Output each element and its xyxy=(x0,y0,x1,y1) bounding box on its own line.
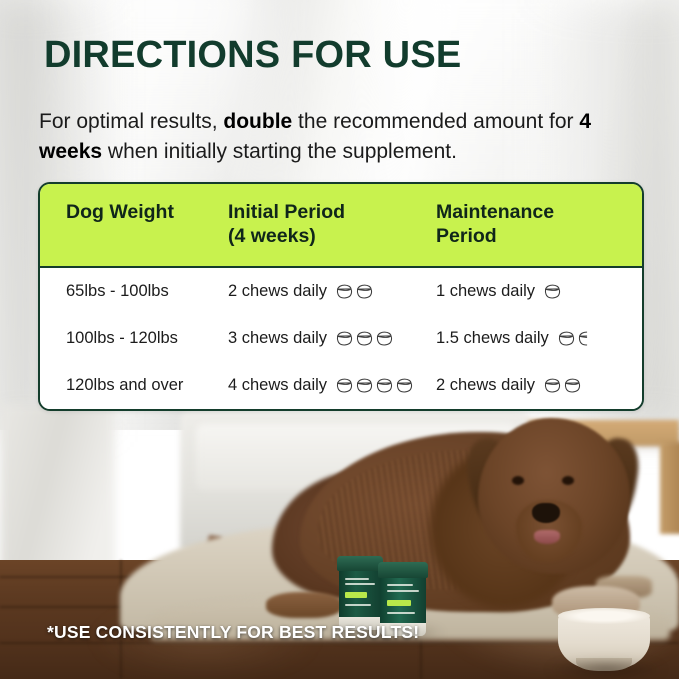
cell-dog-weight: 65lbs - 100lbs xyxy=(40,282,228,301)
dosage-table: Dog Weight Initial Period (4 weeks) Main… xyxy=(38,182,644,411)
chew-treat-icon xyxy=(395,377,414,394)
maintenance-dose-text: 2 chews daily xyxy=(436,376,535,395)
subtitle-part-3: when initially starting the supplement. xyxy=(102,140,457,163)
initial-dose-text: 2 chews daily xyxy=(228,282,327,301)
cell-initial-period: 3 chews daily xyxy=(228,329,436,348)
cell-maintenance-period: 2 chews daily xyxy=(436,376,642,395)
chew-icon-group xyxy=(543,283,562,300)
initial-dose-text: 4 chews daily xyxy=(228,376,327,395)
cell-maintenance-period: 1 chews daily xyxy=(436,282,642,301)
maintenance-dose-text: 1 chews daily xyxy=(436,282,535,301)
chew-treat-icon xyxy=(543,377,562,394)
cell-dog-weight: 120lbs and over xyxy=(40,376,228,395)
chew-treat-icon xyxy=(355,283,374,300)
subtitle-bold-double: double xyxy=(223,110,292,133)
chew-treat-icon xyxy=(557,330,576,347)
chew-treat-icon xyxy=(375,330,394,347)
header-maintenance-period-line2: Period xyxy=(436,224,642,248)
chew-icon-group xyxy=(335,330,394,347)
header-dog-weight: Dog Weight xyxy=(40,200,228,249)
chew-treat-half-icon xyxy=(577,330,596,347)
table-row: 100lbs - 120lbs3 chews daily1.5 chews da… xyxy=(40,315,642,362)
chew-treat-icon xyxy=(335,283,354,300)
page-title: DIRECTIONS FOR USE xyxy=(44,35,461,77)
cell-dog-weight: 100lbs - 120lbs xyxy=(40,329,228,348)
directions-for-use-infographic: DIRECTIONS FOR USE For optimal results, … xyxy=(0,0,679,679)
chew-treat-icon xyxy=(543,283,562,300)
footer-note: *USE CONSISTENTLY FOR BEST RESULTS! xyxy=(47,622,419,643)
chew-treat-icon xyxy=(335,377,354,394)
maintenance-dose-text: 1.5 chews daily xyxy=(436,329,549,348)
header-initial-period-line1: Initial Period xyxy=(228,200,436,224)
chew-icon-group xyxy=(543,377,582,394)
chew-icon-group xyxy=(335,283,374,300)
subtitle: For optimal results, double the recommen… xyxy=(39,107,639,168)
chew-treat-icon xyxy=(335,330,354,347)
cell-initial-period: 4 chews daily xyxy=(228,376,436,395)
chew-treat-icon xyxy=(563,377,582,394)
chew-icon-group xyxy=(335,377,414,394)
overlay-content: DIRECTIONS FOR USE For optimal results, … xyxy=(0,0,679,679)
initial-dose-text: 3 chews daily xyxy=(228,329,327,348)
subtitle-part-2: the recommended amount for xyxy=(292,110,579,133)
chew-treat-icon xyxy=(375,377,394,394)
chew-icon-group xyxy=(557,330,596,347)
header-maintenance-period-line1: Maintenance xyxy=(436,200,642,224)
header-initial-period: Initial Period (4 weeks) xyxy=(228,200,436,249)
chew-treat-icon xyxy=(355,377,374,394)
chew-treat-icon xyxy=(355,330,374,347)
cell-initial-period: 2 chews daily xyxy=(228,282,436,301)
table-row: 120lbs and over4 chews daily2 chews dail… xyxy=(40,362,642,409)
subtitle-part-1: For optimal results, xyxy=(39,110,223,133)
header-initial-period-line2: (4 weeks) xyxy=(228,224,436,248)
cell-maintenance-period: 1.5 chews daily xyxy=(436,329,642,348)
table-header-row: Dog Weight Initial Period (4 weeks) Main… xyxy=(40,184,642,268)
header-maintenance-period: Maintenance Period xyxy=(436,200,642,249)
table-body: 65lbs - 100lbs2 chews daily1 chews daily… xyxy=(40,268,642,409)
table-row: 65lbs - 100lbs2 chews daily1 chews daily xyxy=(40,268,642,315)
